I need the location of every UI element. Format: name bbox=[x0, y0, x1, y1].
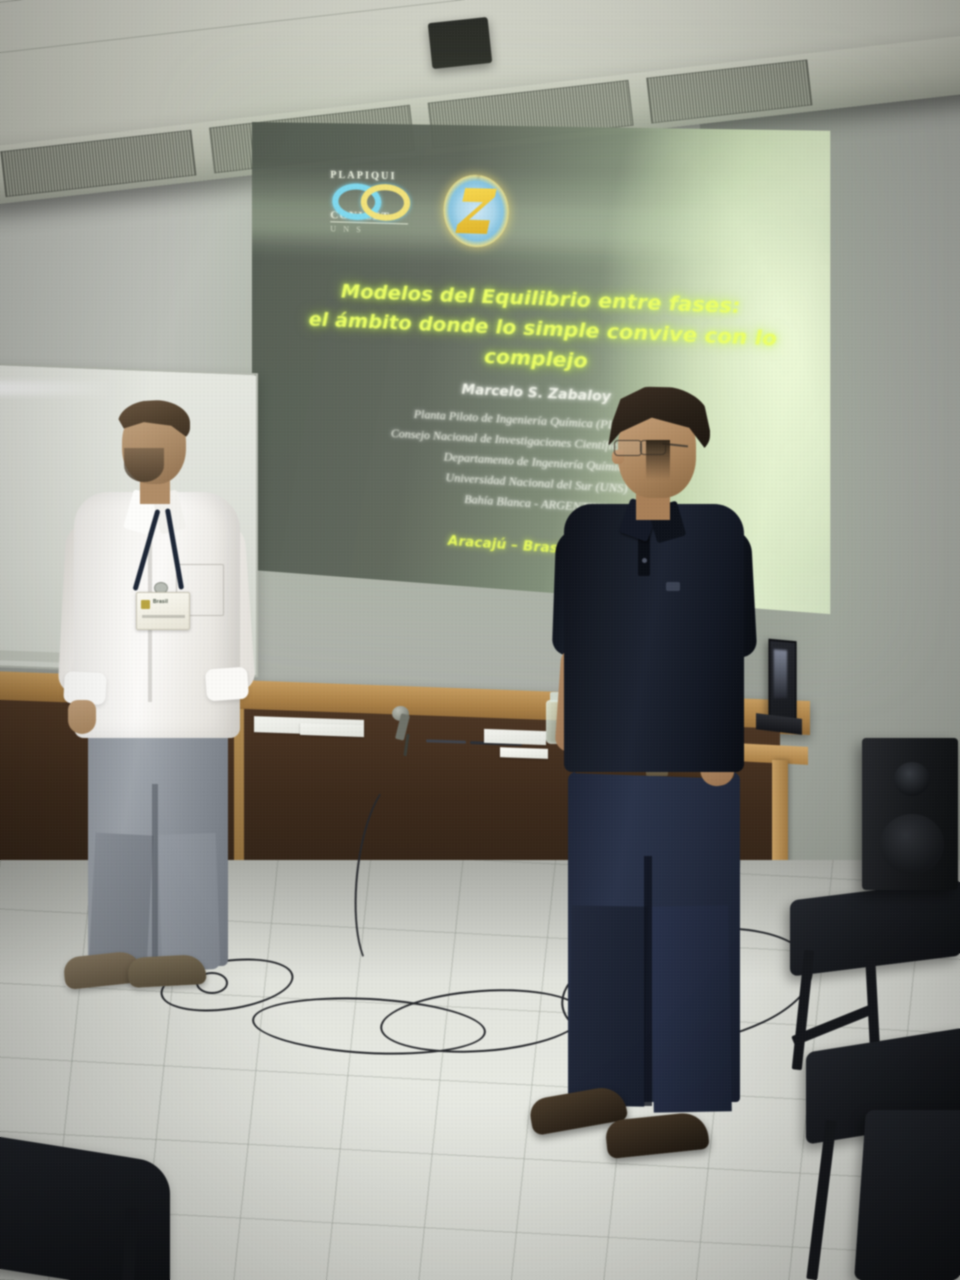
ceiling-fixture bbox=[428, 17, 492, 69]
slide-logo-group: PLAPIQUI CONICET UNS bbox=[330, 170, 517, 257]
logo-uns-text: UNS bbox=[330, 224, 420, 236]
person-left-white-shirt: Brasil bbox=[56, 404, 266, 984]
slide-title: Modelos del Equilibrio entre fases: el á… bbox=[292, 275, 796, 387]
photo-scene: PLAPIQUI CONICET UNS Modelos del Equilib… bbox=[0, 0, 960, 1280]
right-cuff bbox=[205, 667, 249, 702]
paper-sheet bbox=[300, 723, 364, 737]
plapiqui-conicet-uns-logo: PLAPIQUI CONICET UNS bbox=[330, 170, 420, 250]
left-leg bbox=[568, 905, 647, 1106]
polo-button-bottom bbox=[642, 558, 647, 563]
left-leg bbox=[88, 833, 153, 972]
polo-chest-logo bbox=[666, 582, 680, 591]
person-right-dark-polo bbox=[540, 386, 800, 1176]
pa-loudspeaker bbox=[862, 738, 958, 890]
badge-text: Brasil bbox=[153, 599, 186, 605]
infinity-icon bbox=[330, 182, 416, 211]
sun-emblem-icon bbox=[443, 174, 508, 248]
glasses-left-lens-icon bbox=[614, 440, 642, 456]
right-leg bbox=[158, 833, 221, 971]
left-hand bbox=[68, 700, 96, 734]
dark-polo-shirt bbox=[564, 504, 744, 772]
badge-emblem-icon bbox=[141, 600, 150, 609]
beard bbox=[124, 448, 164, 482]
logo-plapiqui-text: PLAPIQUI bbox=[330, 170, 420, 183]
name-badge: Brasil bbox=[136, 592, 190, 630]
jeans-seam bbox=[152, 784, 158, 966]
trouser-seam bbox=[644, 856, 652, 1106]
tweeter-icon bbox=[894, 762, 930, 796]
chair-bottom-right-back bbox=[854, 1110, 960, 1280]
right-shoe bbox=[127, 954, 206, 988]
woofer-icon bbox=[880, 814, 944, 874]
right-leg bbox=[650, 905, 732, 1112]
notebook bbox=[484, 729, 546, 745]
